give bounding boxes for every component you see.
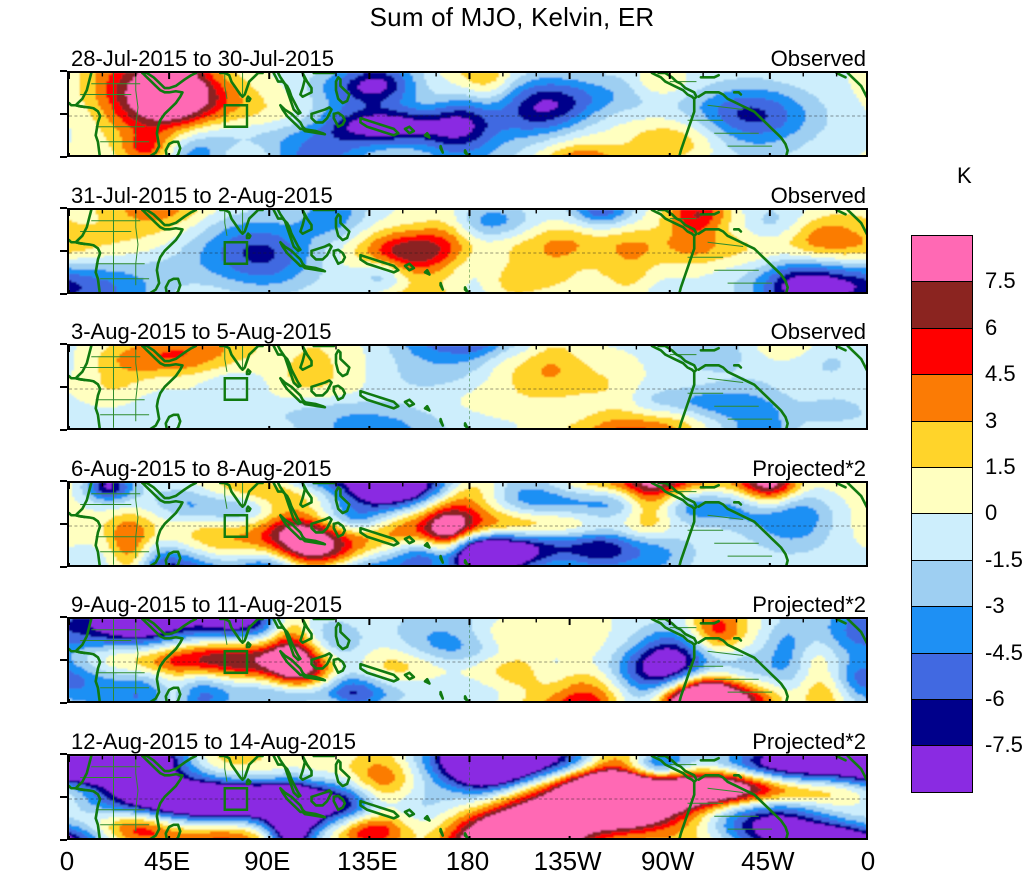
y-axis-tick-mark xyxy=(60,480,67,482)
y-axis-tick-mark xyxy=(60,566,67,568)
colorbar-segment xyxy=(911,328,973,375)
panel-date-range: 31-Jul-2015 to 2-Aug-2015 xyxy=(71,183,333,209)
coastline xyxy=(247,506,250,510)
map-panel: 12-Aug-2015 to 14-Aug-2015Projected*220N… xyxy=(67,754,868,840)
map-panel: 28-Jul-2015 to 30-Jul-2015Observed20N020… xyxy=(67,71,868,157)
map-plot-area xyxy=(67,754,868,840)
figure-root: Sum of MJO, Kelvin, ER 28-Jul-2015 to 30… xyxy=(0,0,1024,889)
y-axis-tick-mark xyxy=(60,207,67,209)
y-axis-tick-mark xyxy=(60,250,67,252)
panel-status-label: Projected*2 xyxy=(752,592,866,618)
panel-status-label: Observed xyxy=(771,319,866,345)
colorbar-unit-label: K xyxy=(957,163,972,189)
panel-status-label: Projected*2 xyxy=(752,456,866,482)
colorbar-tick-label: -4.5 xyxy=(985,640,1023,666)
colorbar-tick-label: -1.5 xyxy=(985,547,1023,573)
colorbar-segment xyxy=(911,421,973,468)
colorbar-segment xyxy=(911,235,973,282)
x-axis-tick-labels: 045E90E135E180135W90W45W0 xyxy=(67,846,868,886)
map-plot-area xyxy=(67,208,868,294)
colorbar-tick-label: 3 xyxy=(985,408,997,434)
x-axis-tick-label: 45E xyxy=(144,846,190,877)
y-axis-tick-mark xyxy=(60,702,67,704)
x-axis-tick-label: 0 xyxy=(60,846,74,877)
colorbar-segment xyxy=(911,606,973,653)
coastline xyxy=(247,779,250,783)
colorbar-segment xyxy=(911,653,973,700)
y-axis-tick-mark xyxy=(60,429,67,431)
coastline xyxy=(425,133,429,137)
figure-title: Sum of MJO, Kelvin, ER xyxy=(0,2,1024,33)
panel-date-range: 9-Aug-2015 to 11-Aug-2015 xyxy=(71,592,342,618)
map-panel: 9-Aug-2015 to 11-Aug-2015Projected*220N0… xyxy=(67,617,868,703)
map-panel: 6-Aug-2015 to 8-Aug-2015Projected*220N02… xyxy=(67,481,868,567)
colorbar-segment xyxy=(911,745,973,792)
x-axis-tick-label: 90E xyxy=(244,846,290,877)
colorbar-segment xyxy=(911,374,973,421)
colorbar-segment xyxy=(911,281,973,328)
y-axis-tick-mark xyxy=(60,70,67,72)
x-axis-tick-label: 0 xyxy=(861,846,875,877)
y-axis-tick-mark xyxy=(60,386,67,388)
colorbar-tick-label: 0 xyxy=(985,500,997,526)
colorbar-segment xyxy=(911,699,973,746)
y-axis-tick-mark xyxy=(60,523,67,525)
map-plot-area xyxy=(67,71,868,157)
colorbar-tick-label: -3 xyxy=(985,593,1005,619)
panel-status-label: Observed xyxy=(771,46,866,72)
panel-date-range: 6-Aug-2015 to 8-Aug-2015 xyxy=(71,456,332,482)
colorbar-tick-label: -6 xyxy=(985,686,1005,712)
map-plot-area xyxy=(67,481,868,567)
panel-status-label: Projected*2 xyxy=(752,729,866,755)
y-axis-tick-mark xyxy=(60,753,67,755)
coastline xyxy=(247,643,250,647)
colorbar-segment xyxy=(911,560,973,607)
x-axis-tick-label: 180 xyxy=(446,846,489,877)
y-axis-tick-mark xyxy=(60,293,67,295)
coastline xyxy=(247,233,250,237)
coastline xyxy=(425,406,429,410)
y-axis-tick-mark xyxy=(60,796,67,798)
y-axis-tick-mark xyxy=(60,113,67,115)
coastline xyxy=(425,270,429,274)
colorbar: K 7.564.531.50-1.5-3-4.5-6-7.5 xyxy=(911,235,973,792)
map-plot-area xyxy=(67,344,868,430)
panel-date-range: 12-Aug-2015 to 14-Aug-2015 xyxy=(71,729,356,755)
coastline xyxy=(247,370,250,374)
colorbar-tick-label: -7.5 xyxy=(985,732,1023,758)
x-axis-tick-label: 45W xyxy=(741,846,794,877)
x-axis-tick-label: 135W xyxy=(534,846,602,877)
colorbar-tick-label: 6 xyxy=(985,315,997,341)
x-axis-tick-label: 90W xyxy=(641,846,694,877)
map-panel: 31-Jul-2015 to 2-Aug-2015Observed20N020S xyxy=(67,208,868,294)
y-axis-tick-mark xyxy=(60,343,67,345)
colorbar-tick-label: 7.5 xyxy=(985,268,1016,294)
panel-date-range: 28-Jul-2015 to 30-Jul-2015 xyxy=(71,46,334,72)
coastline xyxy=(247,97,250,101)
colorbar-segment xyxy=(911,513,973,560)
y-axis-tick-mark xyxy=(60,156,67,158)
coastline xyxy=(425,679,429,683)
x-axis-tick-label: 135E xyxy=(337,846,398,877)
map-panel: 3-Aug-2015 to 5-Aug-2015Observed20N020S xyxy=(67,344,868,430)
map-plot-area xyxy=(67,617,868,703)
coastline xyxy=(425,816,429,820)
panel-status-label: Observed xyxy=(771,183,866,209)
y-axis-tick-mark xyxy=(60,839,67,841)
colorbar-segment xyxy=(911,467,973,514)
colorbar-tick-label: 1.5 xyxy=(985,454,1016,480)
y-axis-tick-mark xyxy=(60,616,67,618)
colorbar-tick-label: 4.5 xyxy=(985,361,1016,387)
panel-date-range: 3-Aug-2015 to 5-Aug-2015 xyxy=(71,319,332,345)
y-axis-tick-mark xyxy=(60,659,67,661)
coastline xyxy=(425,543,429,547)
